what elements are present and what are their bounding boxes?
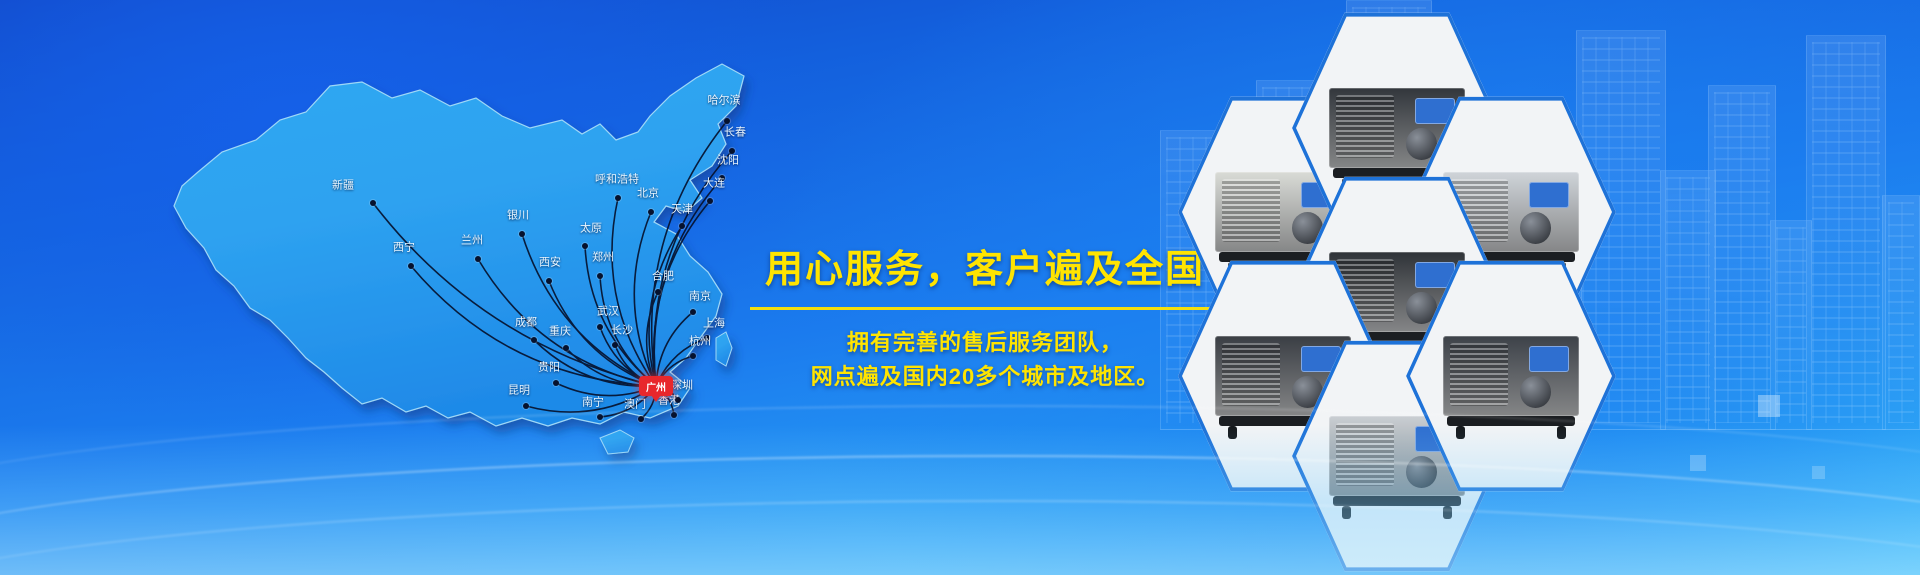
machine-grille	[1336, 95, 1394, 158]
map-city-dot-武汉	[597, 324, 603, 330]
map-city-dot-深圳	[675, 397, 681, 403]
china-service-map: 新疆哈尔滨长春沈阳呼和浩特北京天津大连银川太原兰州西宁西安郑州合肥南京武汉长沙上…	[130, 20, 750, 440]
map-city-label-贵阳: 贵阳	[538, 363, 560, 374]
map-city-dot-郑州	[597, 273, 603, 279]
machine-base-frame	[1333, 496, 1462, 506]
machine-base-frame	[1447, 416, 1576, 426]
map-city-label-昆明: 昆明	[508, 386, 530, 397]
map-city-dot-哈尔滨	[724, 118, 730, 124]
map-city-label-武汉: 武汉	[597, 307, 619, 318]
machine-leg-left	[1342, 506, 1351, 519]
machine-compressor	[1520, 376, 1551, 408]
map-city-label-成都: 成都	[515, 318, 537, 329]
map-city-dot-长春	[729, 148, 735, 154]
machine-leg-left	[1456, 426, 1465, 439]
map-city-dot-太原	[582, 243, 588, 249]
machine-grille	[1222, 179, 1280, 242]
map-city-dot-香港	[671, 412, 677, 418]
headline-divider	[750, 307, 1220, 310]
machine-leg-right	[1443, 506, 1452, 519]
map-city-label-西宁: 西宁	[393, 243, 415, 254]
map-city-dot-新疆	[370, 200, 376, 206]
map-city-label-天津: 天津	[671, 205, 693, 216]
product-hexagon-cluster	[1180, 0, 1920, 575]
map-city-label-哈尔滨: 哈尔滨	[708, 96, 741, 107]
map-city-dot-南京	[690, 309, 696, 315]
machine-grille	[1222, 343, 1280, 406]
map-city-dot-天津	[679, 223, 685, 229]
map-city-dot-长沙	[612, 342, 618, 348]
map-city-label-合肥: 合肥	[652, 272, 674, 283]
machine-leg-left	[1228, 426, 1237, 439]
map-city-dot-昆明	[523, 403, 529, 409]
banner-text-block: 用心服务，客户遍及全国 拥有完善的售后服务团队， 网点遍及国内20多个城市及地区…	[745, 238, 1225, 394]
map-city-label-新疆: 新疆	[332, 181, 354, 192]
map-hub-marker-广州: 广州	[639, 376, 673, 396]
map-city-label-重庆: 重庆	[549, 327, 571, 338]
machine-grille	[1450, 343, 1508, 406]
map-city-label-大连: 大连	[703, 179, 725, 190]
map-city-label-深圳: 深圳	[671, 381, 693, 392]
machine-control-panel	[1529, 182, 1569, 208]
map-city-label-郑州: 郑州	[592, 253, 614, 264]
map-city-dot-西安	[546, 278, 552, 284]
machine-illustration-low-temp-chiller-unit	[1434, 304, 1588, 448]
map-city-dot-银川	[519, 231, 525, 237]
map-city-label-南宁: 南宁	[582, 398, 604, 409]
map-city-label-银川: 银川	[507, 211, 529, 222]
machine-grille	[1336, 423, 1394, 486]
map-city-label-呼和浩特: 呼和浩特	[595, 175, 639, 186]
map-city-dot-西宁	[408, 263, 414, 269]
map-city-dot-贵阳	[553, 380, 559, 386]
map-city-label-南京: 南京	[689, 292, 711, 303]
map-city-dot-呼和浩特	[615, 195, 621, 201]
map-city-label-西安: 西安	[539, 258, 561, 269]
machine-leg-right	[1557, 426, 1566, 439]
map-city-label-沈阳: 沈阳	[717, 156, 739, 167]
map-city-dot-兰州	[475, 256, 481, 262]
map-city-label-澳门: 澳门	[624, 400, 646, 411]
map-city-dot-北京	[648, 209, 654, 215]
banner-headline: 用心服务，客户遍及全国	[745, 238, 1225, 293]
map-city-dot-南宁	[597, 414, 603, 420]
map-city-dot-重庆	[563, 345, 569, 351]
machine-compressor	[1406, 456, 1437, 488]
map-city-dot-杭州	[690, 353, 696, 359]
map-city-label-兰州: 兰州	[461, 236, 483, 247]
banner-subline-2: 网点遍及国内20多个城市及地区。	[745, 360, 1225, 394]
map-city-label-长沙: 长沙	[611, 326, 633, 337]
map-city-dot-合肥	[655, 289, 661, 295]
service-network-banner: 新疆哈尔滨长春沈阳呼和浩特北京天津大连银川太原兰州西宁西安郑州合肥南京武汉长沙上…	[0, 0, 1920, 575]
map-city-label-上海: 上海	[703, 319, 725, 330]
banner-subline-1: 拥有完善的售后服务团队，	[745, 326, 1225, 360]
map-city-label-杭州: 杭州	[689, 337, 711, 348]
map-city-dot-澳门	[638, 416, 644, 422]
map-city-label-太原: 太原	[580, 224, 602, 235]
map-city-label-北京: 北京	[637, 189, 659, 200]
machine-compressor	[1520, 212, 1551, 244]
machine-control-panel	[1529, 346, 1569, 372]
map-city-label-长春: 长春	[724, 128, 746, 139]
map-city-dot-成都	[531, 337, 537, 343]
map-city-dot-大连	[707, 198, 713, 204]
